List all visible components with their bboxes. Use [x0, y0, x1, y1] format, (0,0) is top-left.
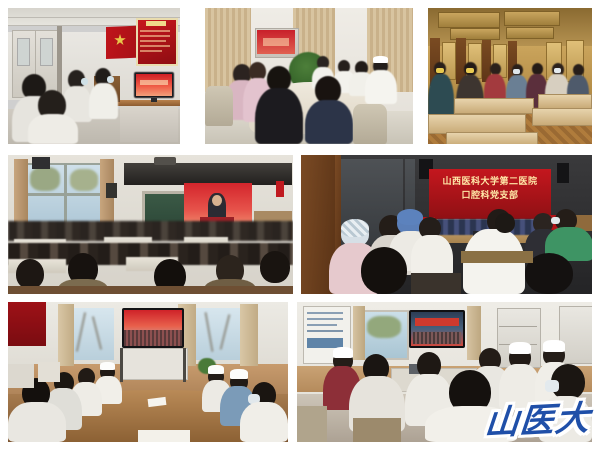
- nurse-cap-icon: [100, 362, 115, 370]
- chair: [205, 86, 233, 126]
- photo-top-right-scene: [428, 8, 592, 144]
- tree-outside: [70, 169, 98, 191]
- red-wall-banner: [8, 302, 46, 346]
- face-mask-icon: [436, 68, 444, 73]
- tv-screen-crowd: [124, 330, 182, 346]
- desk-top: [116, 100, 180, 106]
- door-frame: [57, 26, 62, 100]
- monitor-screen: [136, 74, 172, 96]
- desk-cabinet: [120, 100, 178, 142]
- notice-line: [307, 324, 337, 326]
- honor-board-line: [140, 30, 170, 32]
- classroom-floor: [8, 286, 293, 294]
- monitor-stand: [151, 98, 157, 102]
- photo-bottom-left-scene: [8, 302, 288, 442]
- face-mask-icon: [545, 380, 559, 392]
- screen-red-stage: [415, 318, 459, 326]
- photo-top-middle-scene: [205, 8, 413, 144]
- photo-top-right: [428, 8, 592, 144]
- nurse-cap-icon: [543, 340, 565, 352]
- tv-stand-leg: [120, 348, 123, 382]
- photo-middle-right-scene: 山西医科大学第二医院 口腔科党支部: [301, 155, 592, 294]
- face-mask-icon: [107, 76, 114, 83]
- photo-bottom-right-scene: [297, 302, 592, 442]
- tv-stand: [120, 348, 188, 380]
- honor-board-title: [146, 21, 166, 26]
- photo-middle-left: [8, 155, 293, 294]
- photo-top-left-scene: [8, 8, 180, 144]
- photo-collage: 山西医科大学第二医院 口腔科党支部: [0, 0, 600, 450]
- person-head: [260, 251, 290, 283]
- honor-board-line: [140, 40, 166, 42]
- person-body: [425, 406, 517, 442]
- photo-bottom-right: [297, 302, 592, 442]
- nurse-cap-icon: [509, 342, 531, 354]
- tree-outside: [30, 167, 60, 191]
- honor-board-line: [140, 50, 162, 52]
- hall-bench: [454, 98, 534, 114]
- person-body: [240, 402, 288, 442]
- ceiling-beam: [124, 163, 292, 185]
- chair: [353, 104, 387, 144]
- monitor-screen-highlight: [140, 80, 168, 85]
- face-mask-icon: [466, 68, 474, 73]
- face-mask-icon: [551, 217, 560, 224]
- window-curtain: [14, 159, 28, 229]
- notice-line: [307, 318, 343, 320]
- ceiling-panel: [438, 12, 500, 28]
- person-body: [365, 70, 397, 104]
- person-head: [361, 247, 407, 294]
- chair: [411, 273, 461, 294]
- cabinet-glass: [17, 38, 30, 66]
- screen-crowd: [413, 332, 461, 344]
- window-curtain: [353, 306, 365, 360]
- person-body: [89, 83, 118, 119]
- notice-line: [307, 330, 343, 332]
- notice-line: [307, 312, 343, 314]
- person-head: [16, 259, 44, 289]
- banner-text-line-2: 口腔科党支部: [429, 191, 551, 200]
- photo-middle-right: 山西医科大学第二医院 口腔科党支部: [301, 155, 592, 294]
- ceiling-projector: [154, 157, 176, 165]
- chair: [353, 418, 401, 442]
- face-mask-icon: [81, 78, 88, 85]
- window: [196, 308, 240, 360]
- speaker-face: [212, 195, 222, 206]
- ceiling-panel: [504, 11, 560, 26]
- cabinet-glass: [40, 38, 53, 66]
- honor-board-line: [140, 45, 170, 47]
- hall-bench: [538, 94, 592, 109]
- person-body: [255, 88, 303, 144]
- wall-speaker: [32, 157, 50, 169]
- chair: [297, 406, 327, 442]
- projection-highlight: [263, 38, 289, 46]
- window-curtain: [58, 304, 74, 366]
- person-body: [539, 396, 592, 442]
- photo-top-left: [8, 8, 180, 144]
- person-body: [8, 402, 66, 442]
- window-curtain: [467, 306, 481, 360]
- photo-top-middle: [205, 8, 413, 144]
- wall-speaker: [557, 163, 569, 183]
- window-curtain: [240, 304, 258, 366]
- scrub-cap-icon: [341, 219, 369, 237]
- tv-stand-leg: [183, 348, 186, 382]
- photo-bottom-left: [8, 302, 288, 442]
- hall-bench: [446, 132, 538, 144]
- person-body: [411, 235, 453, 277]
- nurse-cap-icon: [373, 56, 388, 63]
- person-body: [305, 100, 353, 144]
- wall-speaker: [106, 183, 117, 198]
- shelf-line: [499, 326, 537, 327]
- hall-bench: [428, 114, 526, 134]
- hall-bench: [532, 108, 592, 126]
- honor-board-line: [140, 35, 170, 37]
- photo-middle-left-scene: [8, 155, 293, 294]
- foliage-outside: [367, 316, 401, 338]
- banner-text-line-1: 山西医科大学第二医院: [429, 177, 551, 186]
- nurse-cap-icon: [230, 369, 248, 379]
- nurse-cap-icon: [208, 365, 224, 374]
- chair: [38, 362, 60, 382]
- bench-table: [461, 251, 533, 263]
- chair: [8, 364, 34, 388]
- face-mask-icon: [513, 69, 520, 74]
- person-head: [495, 213, 515, 233]
- nurse-cap-icon: [333, 347, 353, 358]
- face-mask-icon: [554, 68, 561, 73]
- ceiling-panel: [506, 27, 554, 39]
- wall-sign: [276, 181, 284, 197]
- person-body: [28, 114, 78, 144]
- window-mullion: [26, 193, 104, 196]
- document-on-table: [138, 430, 190, 442]
